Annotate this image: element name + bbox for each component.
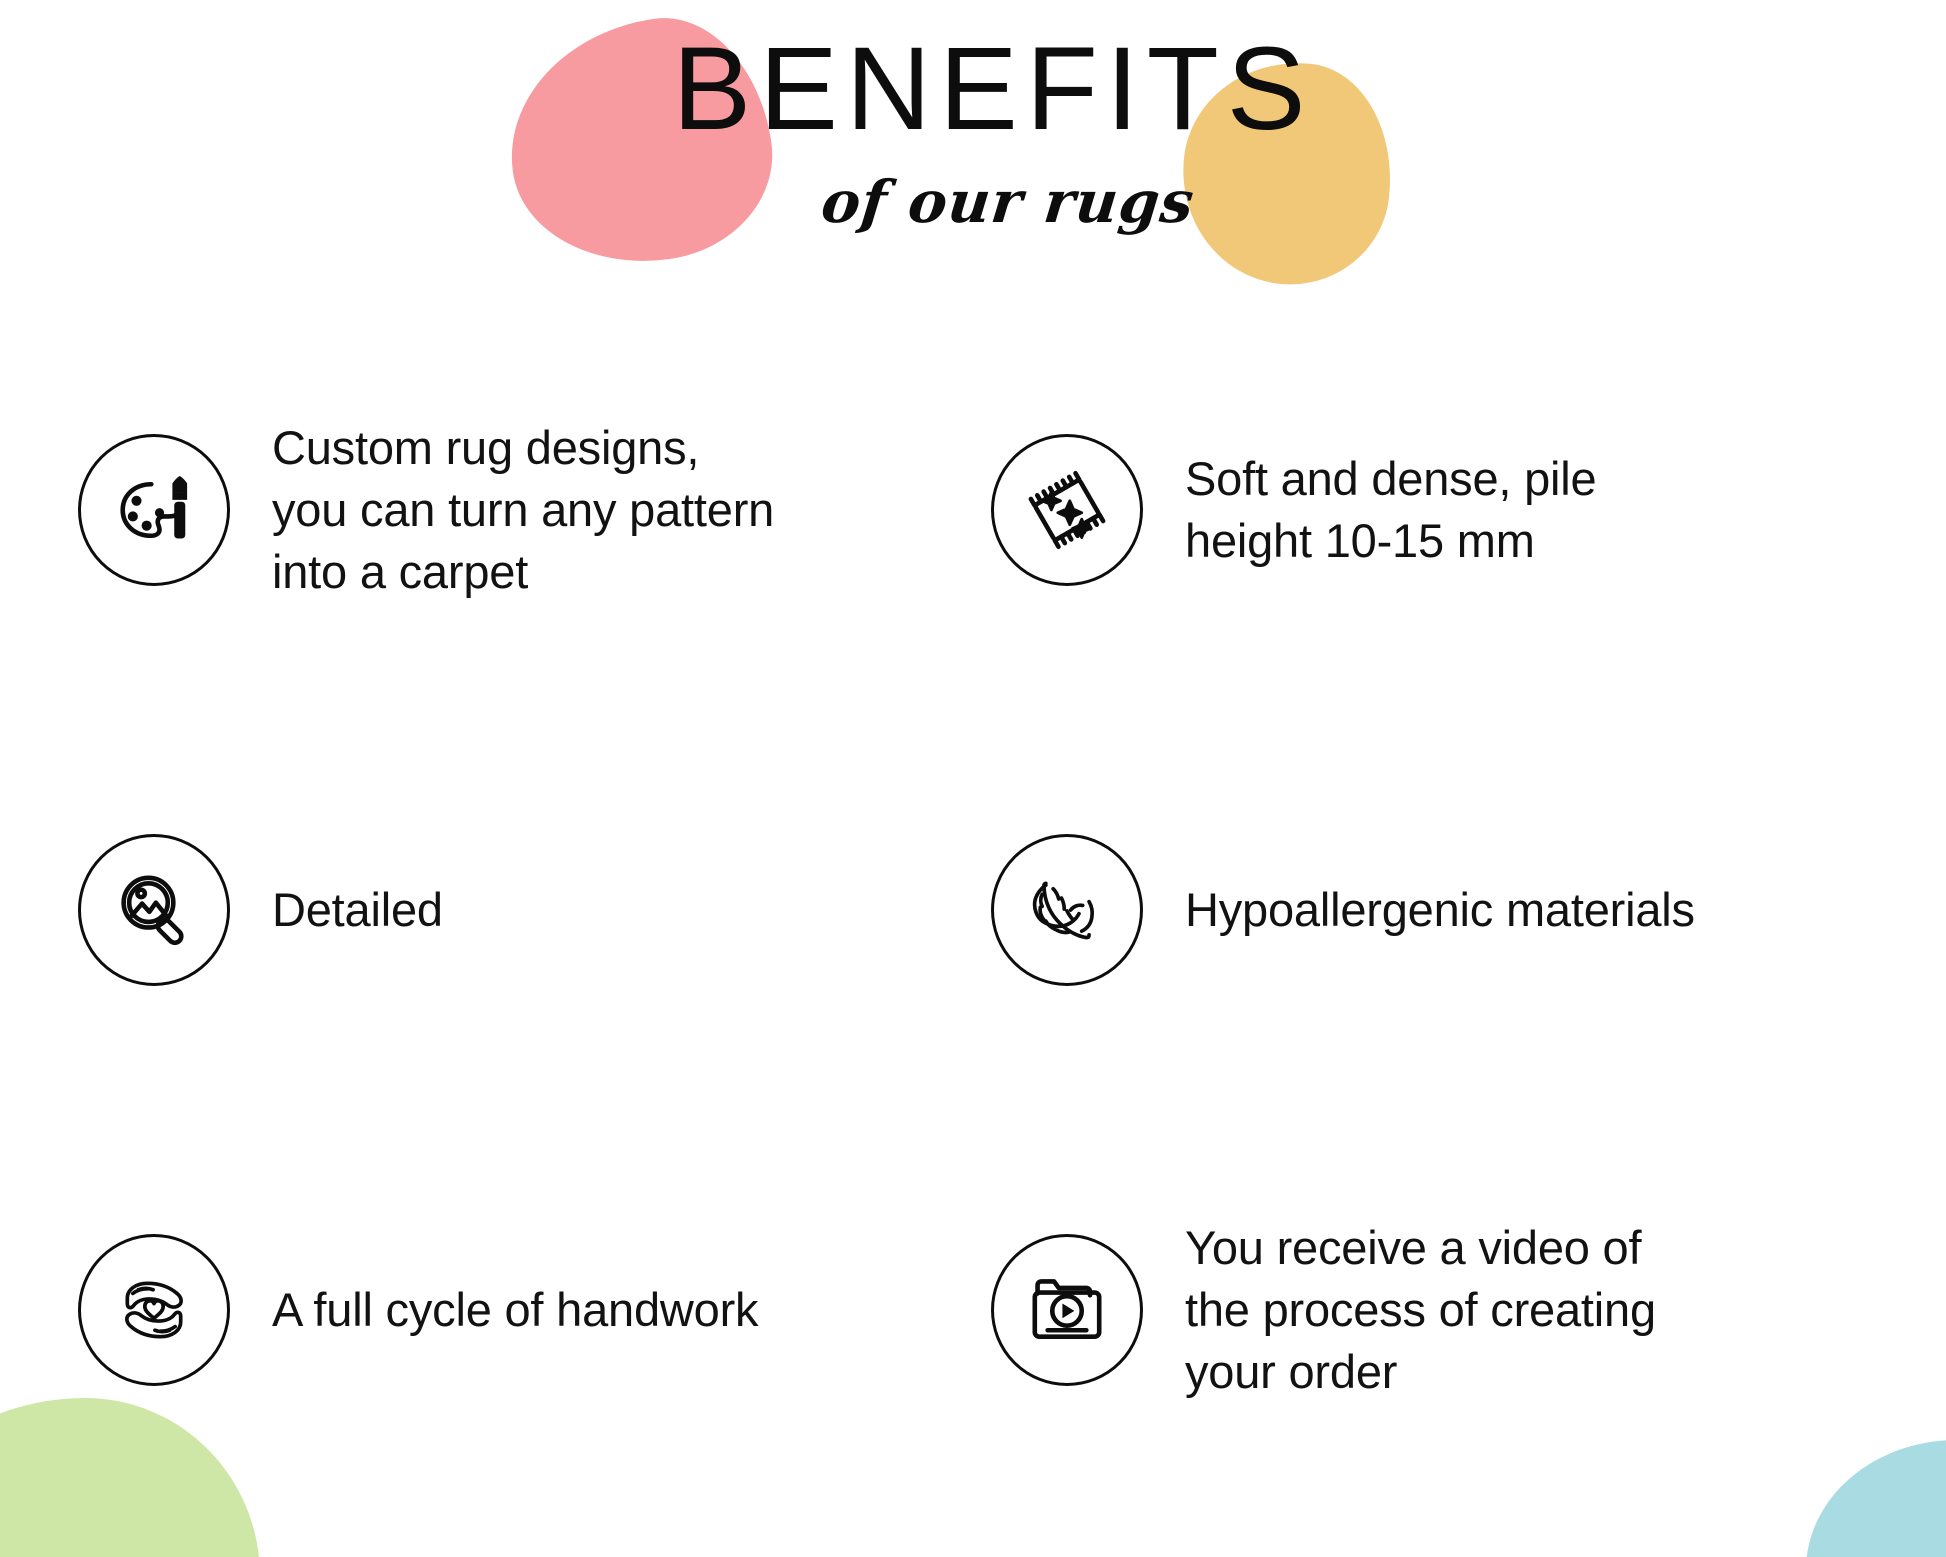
video-folder-icon [991,1234,1143,1386]
benefit-label: You receive a video of the process of cr… [1185,1217,1656,1403]
palette-brush-icon [78,434,230,586]
feather-icon [991,834,1143,986]
benefit-label: A full cycle of handwork [272,1279,758,1341]
benefit-label: Detailed [272,879,443,941]
magnifier-image-icon [78,834,230,986]
benefit-item: Soft and dense, pile height 10-15 mm [973,310,1886,710]
benefit-item: Custom rug designs, you can turn any pat… [60,310,973,710]
rug-sparkle-icon [991,434,1143,586]
benefit-label: Soft and dense, pile height 10-15 mm [1185,448,1596,572]
benefit-item: You receive a video of the process of cr… [973,1110,1886,1510]
page-title: BENEFITS [0,28,1946,152]
benefit-item: A full cycle of handwork [60,1110,973,1510]
header: BENEFITS of our rugs [0,0,1946,280]
benefits-grid: Custom rug designs, you can turn any pat… [0,280,1946,1510]
benefit-item: Hypoallergenic materials [973,710,1886,1110]
benefit-item: Detailed [60,710,973,1110]
benefits-infographic: BENEFITS of our rugs Custom rug designs,… [0,0,1946,1557]
benefit-label: Hypoallergenic materials [1185,879,1695,941]
page-subtitle: of our rugs [0,168,1946,236]
benefit-label: Custom rug designs, you can turn any pat… [272,417,774,603]
hands-heart-icon [78,1234,230,1386]
